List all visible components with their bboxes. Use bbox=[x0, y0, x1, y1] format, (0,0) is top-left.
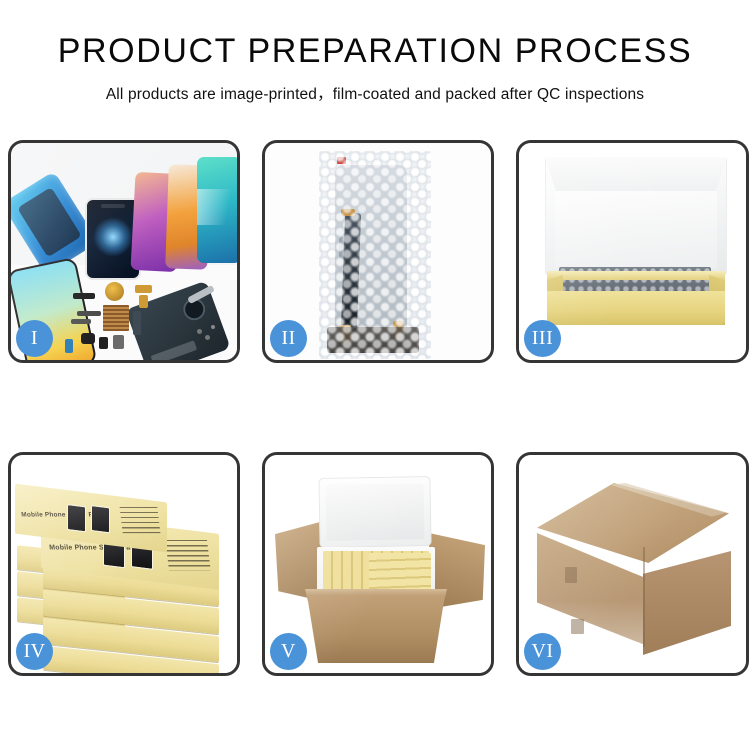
process-step-5[interactable]: V bbox=[262, 452, 494, 676]
process-step-4[interactable]: Mobile Phone Spare Parts Mobile Phone Sp… bbox=[8, 452, 240, 676]
box-print-screen-c bbox=[67, 504, 86, 532]
process-step-2[interactable]: II bbox=[262, 140, 494, 363]
process-step-1[interactable]: I bbox=[8, 140, 240, 363]
flex-cable-c bbox=[133, 311, 141, 335]
step-badge-2: II bbox=[270, 320, 307, 357]
box-print-spec-lines-back bbox=[120, 507, 161, 533]
page-title: PRODUCT PREPARATION PROCESS bbox=[0, 33, 750, 70]
box-lid-top-flap bbox=[545, 157, 727, 191]
logic-chip bbox=[103, 305, 129, 331]
box-print-screen-d bbox=[91, 505, 110, 533]
camera-module bbox=[81, 333, 95, 344]
process-step-6[interactable]: VI bbox=[516, 452, 749, 676]
teal-phone bbox=[197, 157, 237, 263]
white-foam-sheet bbox=[555, 191, 717, 269]
carton-body bbox=[307, 595, 445, 663]
flex-cable-a bbox=[77, 311, 101, 316]
flex-cable-b bbox=[71, 319, 91, 324]
foam-lid bbox=[318, 476, 431, 548]
packed-gold-boxes-right bbox=[369, 553, 431, 591]
screen-bottom-edge bbox=[327, 327, 419, 353]
qc-sticker bbox=[337, 157, 346, 164]
carton-handle-notch-bottom bbox=[571, 619, 584, 634]
page-subtitle: All products are image-printed，film-coat… bbox=[0, 82, 750, 104]
flex-connector-top bbox=[341, 209, 355, 216]
earpiece-component bbox=[73, 293, 95, 299]
vibrator-motor bbox=[99, 337, 108, 349]
flex-connector-b bbox=[139, 295, 148, 308]
step-badge-3: III bbox=[524, 320, 561, 357]
flex-connector-a bbox=[135, 285, 152, 293]
step-badge-1: I bbox=[16, 320, 53, 357]
step-badge-5: V bbox=[270, 633, 307, 670]
step-badge-6: VI bbox=[524, 633, 561, 670]
battery-connector bbox=[65, 339, 73, 353]
process-step-3[interactable]: III bbox=[516, 140, 749, 363]
page-header: PRODUCT PREPARATION PROCESS All products… bbox=[0, 0, 750, 104]
screw-b bbox=[205, 335, 210, 340]
speaker-component bbox=[105, 282, 124, 301]
carton-vertical-seam bbox=[643, 547, 645, 647]
box-rim bbox=[547, 271, 725, 280]
box-front-face bbox=[547, 291, 725, 325]
step-badge-4: IV bbox=[16, 633, 53, 670]
screw-c bbox=[211, 325, 215, 329]
box-print-spec-lines-front bbox=[165, 540, 210, 570]
carton-handle-notch-top bbox=[565, 567, 577, 583]
process-step-grid: I II bbox=[8, 140, 745, 676]
bubble-wrap-bag bbox=[319, 151, 431, 359]
screw-a bbox=[197, 329, 202, 334]
sim-tray bbox=[113, 335, 124, 349]
